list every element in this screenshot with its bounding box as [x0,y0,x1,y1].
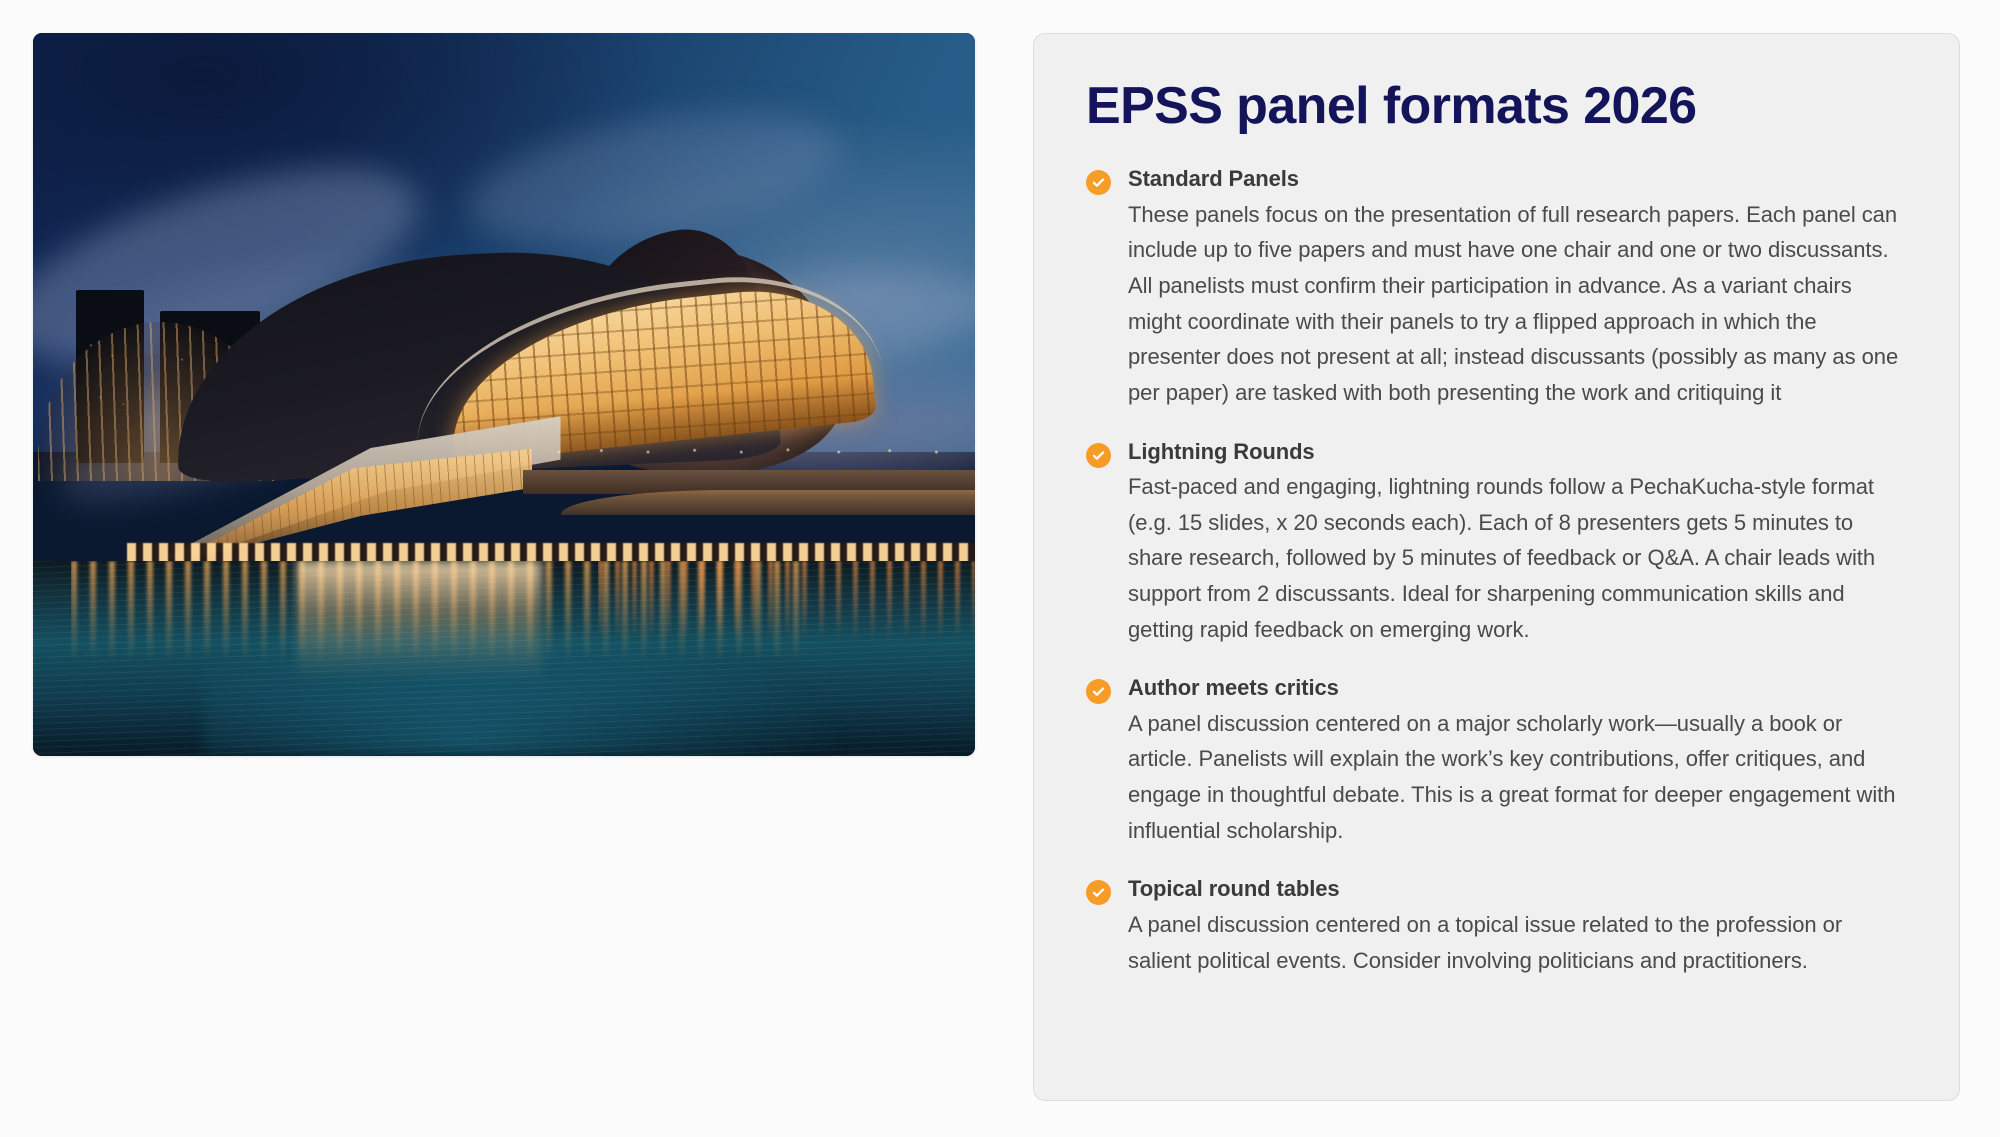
format-item-heading: Lightning Rounds [1128,438,1907,467]
check-column [1086,875,1128,978]
water-ripples [33,561,975,756]
check-circle-icon [1086,443,1111,468]
check-circle-icon [1086,880,1111,905]
check-column [1086,438,1128,648]
check-column [1086,674,1128,848]
format-item-heading: Author meets critics [1128,674,1907,703]
format-item-body: Lightning Rounds Fast-paced and engaging… [1128,438,1907,648]
format-item-text: A panel discussion centered on a major s… [1128,706,1907,849]
format-item-body: Author meets critics A panel discussion … [1128,674,1907,848]
check-circle-icon [1086,679,1111,704]
street-lamps [542,441,966,477]
format-item-lightning-rounds: Lightning Rounds Fast-paced and engaging… [1086,438,1907,648]
check-circle-icon [1086,170,1111,195]
promenade-lights [127,543,975,562]
format-item-heading: Topical round tables [1128,875,1907,904]
format-item-body: Topical round tables A panel discussion … [1128,875,1907,978]
format-item-body: Standard Panels These panels focus on th… [1128,165,1907,410]
hero-photo [33,33,975,756]
format-item-text: Fast-paced and engaging, lightning round… [1128,469,1907,647]
format-item-text: A panel discussion centered on a topical… [1128,907,1907,978]
bridge-arch [561,490,975,515]
format-item-standard-panels: Standard Panels These panels focus on th… [1086,165,1907,410]
photo-image [33,33,975,756]
formats-panel: EPSS panel formats 2026 Standard Panels … [1033,33,1960,1101]
page-title: EPSS panel formats 2026 [1086,78,1907,134]
format-item-heading: Standard Panels [1128,165,1907,194]
water-reflection [33,561,975,756]
format-item-author-meets-critics: Author meets critics A panel discussion … [1086,674,1907,848]
format-item-topical-round-tables: Topical round tables A panel discussion … [1086,875,1907,978]
check-column [1086,165,1128,410]
page-root: EPSS panel formats 2026 Standard Panels … [0,0,2000,1137]
format-item-text: These panels focus on the presentation o… [1128,197,1907,411]
